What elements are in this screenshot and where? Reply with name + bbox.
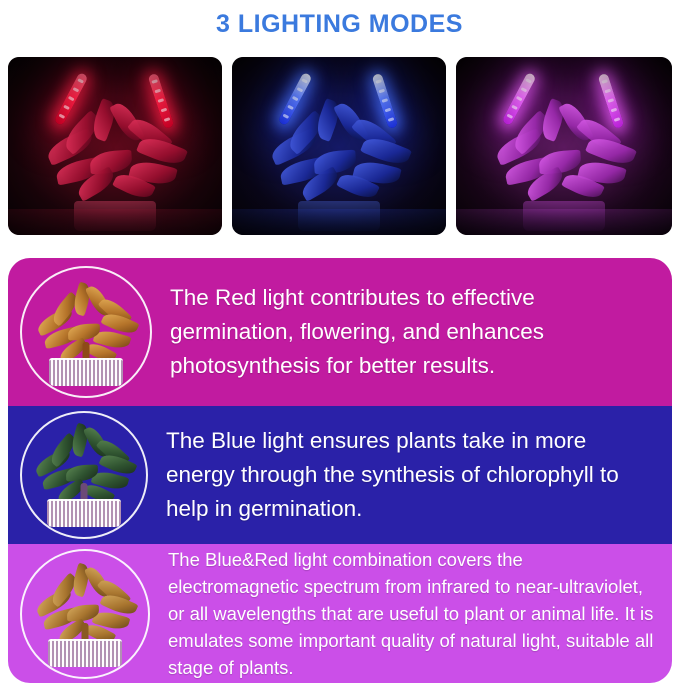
photo-blue-mode — [232, 57, 446, 235]
page-title-bar: 3 LIGHTING MODES — [0, 4, 679, 44]
panel-blue-red-light-text-wrap: The Blue&Red light combination covers th… — [150, 546, 672, 681]
thumbnail-blue-light-plant — [20, 411, 148, 539]
thumbnail-red-light-plant — [20, 266, 152, 398]
vignette-purple — [456, 57, 672, 235]
photo-blue-red-mode — [456, 57, 672, 235]
thumb-pot-blue-red — [48, 639, 122, 667]
panel-blue-red-light: The Blue&Red light combination covers th… — [8, 544, 672, 683]
panel-red-light-text: The Red light contributes to effective g… — [170, 281, 658, 383]
panel-blue-red-light-text: The Blue&Red light combination covers th… — [168, 546, 658, 681]
vignette-blue — [232, 57, 446, 235]
thumb-plant-blue — [32, 431, 136, 527]
panel-blue-light-text-wrap: The Blue light ensures plants take in mo… — [148, 424, 672, 526]
infographic-page: 3 LIGHTING MODES — [0, 0, 679, 691]
panel-blue-light: The Blue light ensures plants take in mo… — [8, 406, 672, 544]
thumbnail-blue-red-light-plant — [20, 549, 150, 679]
panel-red-light: The Red light contributes to effective g… — [8, 258, 672, 406]
thumb-pot-blue — [47, 499, 121, 527]
vignette-red — [8, 57, 222, 235]
page-title: 3 LIGHTING MODES — [216, 10, 463, 39]
lighting-description-panels: The Red light contributes to effective g… — [8, 258, 672, 683]
thumb-plant-blue-red — [33, 571, 137, 667]
thumb-plant-red — [34, 290, 138, 386]
photo-red-mode — [8, 57, 222, 235]
thumb-pot-red — [49, 358, 123, 386]
lighting-mode-photo-strip — [8, 57, 672, 235]
panel-blue-light-text: The Blue light ensures plants take in mo… — [166, 424, 658, 526]
panel-red-light-text-wrap: The Red light contributes to effective g… — [152, 281, 672, 383]
